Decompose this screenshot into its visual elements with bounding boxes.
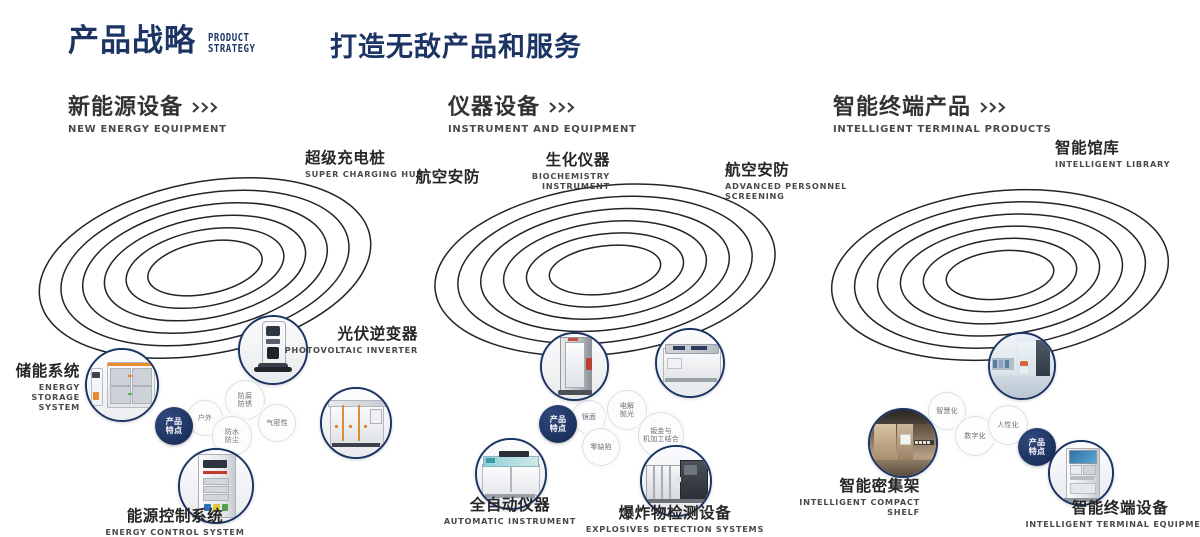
- feature-bubble: 气密性: [258, 404, 296, 442]
- node-label-control-cabinet: 能源控制系统 ENERGY CONTROL SYSTEM: [75, 508, 275, 537]
- node-circle-kiosk-terminal[interactable]: [1048, 440, 1114, 506]
- product-feature-badge: 产品 特点: [155, 407, 193, 445]
- node-label-aviation-security: 航空安防: [400, 169, 480, 187]
- poster-header: 产品战略 PRODUCT STRATEGY: [68, 26, 266, 57]
- node-circle-compact-shelf[interactable]: [868, 408, 938, 478]
- node-circle-energy-storage[interactable]: [85, 348, 159, 422]
- node-label-kiosk-terminal: 智能终端设备 INTELLIGENT TERMINAL EQUIPMENT: [1020, 500, 1200, 529]
- energy-storage-cabinet-image: [87, 350, 157, 420]
- node-circle-pv-inverter[interactable]: [320, 387, 392, 459]
- kiosk-terminal-image: [1050, 442, 1112, 504]
- section-title-instrument: 仪器设备 INSTRUMENT AND EQUIPMENT: [448, 96, 637, 135]
- page-title-en: PRODUCT STRATEGY: [208, 32, 255, 57]
- chevron-right-icon: [192, 102, 222, 115]
- product-feature-badge: 产品 特点: [539, 405, 577, 443]
- page-title: 产品战略: [68, 26, 196, 57]
- section-title-cn: 新能源设备: [68, 96, 183, 120]
- node-circle-screening-machine[interactable]: [655, 328, 725, 398]
- section-title-en: INTELLIGENT TERMINAL PRODUCTS: [833, 124, 1052, 135]
- node-circle-biochem-scanner[interactable]: [540, 332, 609, 401]
- compact-shelf-image: [870, 410, 936, 476]
- biochem-scanner-image: [542, 334, 607, 399]
- cluster-instrument-and-equipment: 镜面 电解 抛光 钣金与 机加工结合 零缺陷 产品 特点 生化仪器 BIOCHE…: [400, 150, 820, 400]
- poster-canvas: 产品战略 PRODUCT STRATEGY 打造无敌产品和服务 新能源设备 NE…: [0, 0, 1200, 422]
- slogan: 打造无敌产品和服务: [330, 34, 582, 61]
- library-room-image: [990, 334, 1054, 398]
- chevron-right-icon: [980, 102, 1010, 115]
- screening-machine-image: [657, 330, 723, 396]
- node-label-library-room: 智能馆库 INTELLIGENT LIBRARY: [1055, 140, 1200, 169]
- node-label-explosive-detector: 爆炸物检测设备 EXPLOSIVES DETECTION SYSTEMS: [580, 505, 770, 534]
- node-label-automatic-instrument: 全自动仪器 AUTOMATIC INSTRUMENT: [420, 497, 600, 526]
- node-label-compact-shelf: 智能密集架 INTELLIGENT COMPACT SHELF: [770, 478, 920, 517]
- section-title-cn: 智能终端产品: [833, 96, 971, 120]
- section-title-intelligent: 智能终端产品 INTELLIGENT TERMINAL PRODUCTS: [833, 96, 1052, 135]
- node-label-pv-inverter: 光伏逆变器 PHOTOVOLTAIC INVERTER: [240, 326, 418, 355]
- chevron-right-icon: [549, 102, 579, 115]
- section-title-en: INSTRUMENT AND EQUIPMENT: [448, 124, 637, 135]
- section-title-cn: 仪器设备: [448, 96, 540, 120]
- pv-inverter-image: [322, 389, 390, 457]
- node-label-energy-storage: 储能系统 ENERGY STORAGE SYSTEM: [0, 363, 80, 412]
- section-title-en: NEW ENERGY EQUIPMENT: [68, 124, 227, 135]
- cluster-new-energy-equipment: 户外 防腐 防锈 防水 防尘 气密性 产品 特点 储能系统 ENERGY S: [0, 150, 420, 400]
- section-title-new-energy: 新能源设备 NEW ENERGY EQUIPMENT: [68, 96, 227, 135]
- feature-bubble: 零缺陷: [582, 428, 620, 466]
- cluster-intelligent-terminal-products: 智慧化 数字化 人性化 产品 特点 智能馆库 INTELLIGENT LIBRA…: [800, 150, 1200, 400]
- node-circle-library-room[interactable]: [988, 332, 1056, 400]
